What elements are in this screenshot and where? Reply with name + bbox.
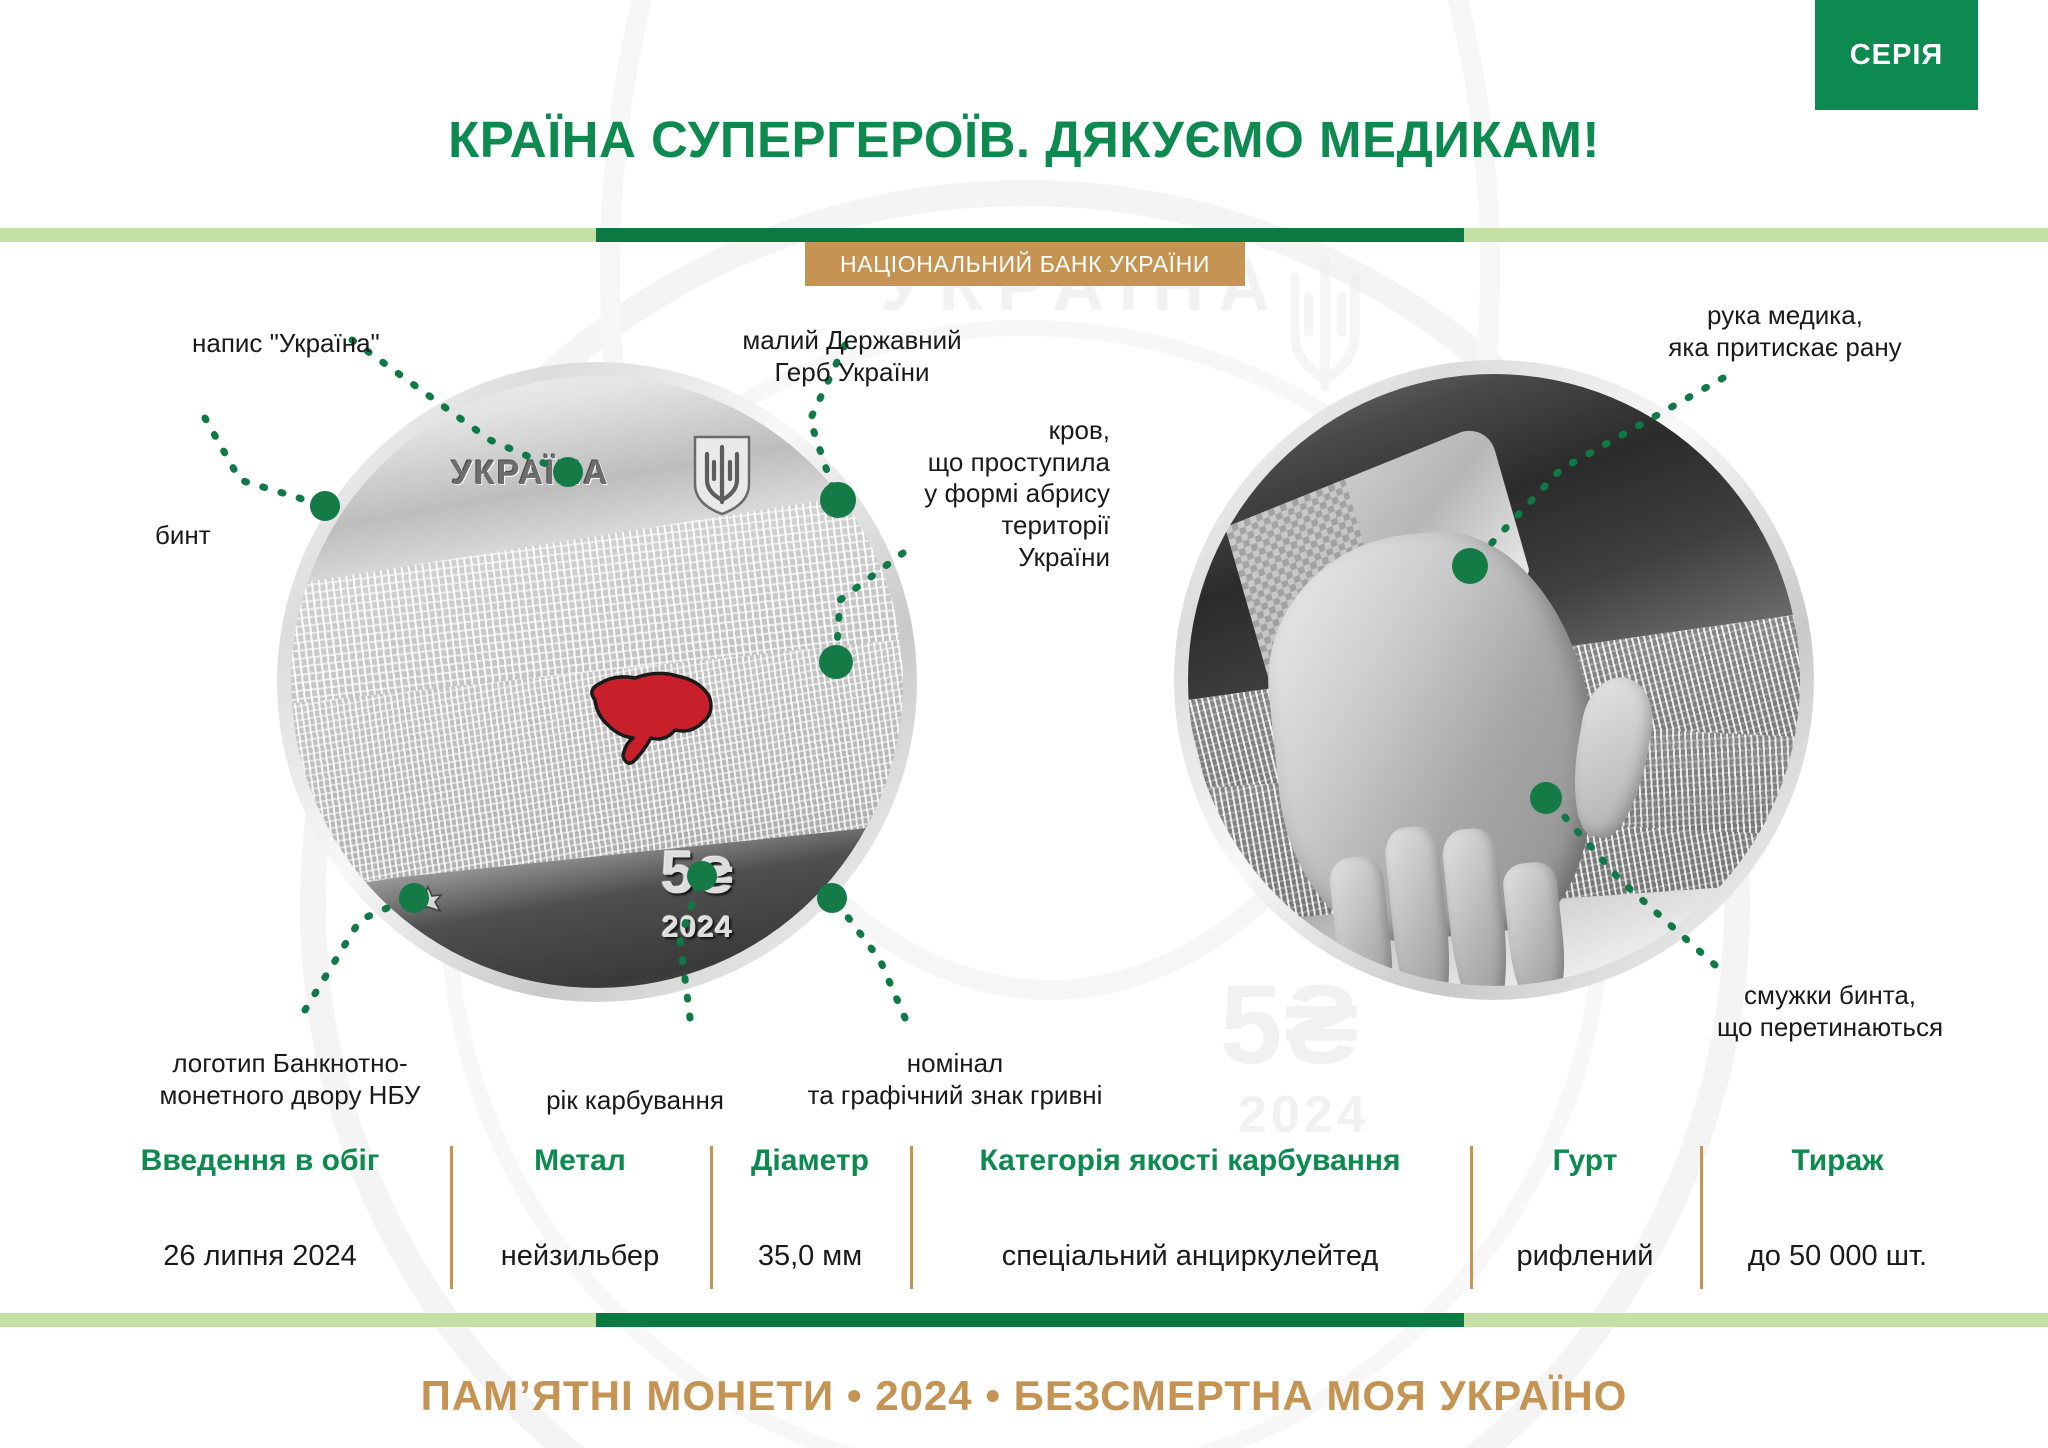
coin-legend-ukraina: УКРАЇНА bbox=[451, 454, 610, 493]
annotation-legend-ukraina: напис "Україна" bbox=[192, 328, 380, 360]
divider-bottom-core bbox=[596, 1313, 1464, 1327]
spec-column-edge: Гурт рифлений bbox=[1470, 1140, 1700, 1295]
spec-value: спеціальний анциркулейтед bbox=[1002, 1240, 1379, 1273]
coin-denomination: 5 ₴ 2024 bbox=[661, 838, 734, 945]
divider-top bbox=[0, 228, 2048, 242]
spec-column-issue-date: Введення в обіг 26 липня 2024 bbox=[70, 1140, 450, 1295]
spec-header: Метал bbox=[534, 1144, 626, 1178]
series-badge: СЕРІЯ bbox=[1815, 0, 1978, 110]
spec-column-quality: Категорія якості карбування спеціальний … bbox=[910, 1140, 1470, 1295]
annotation-mint-year: рік карбування bbox=[510, 1085, 760, 1117]
annotation-medic-hand: рука медика, яка притискає рану bbox=[1620, 300, 1950, 363]
spec-column-diameter: Діаметр 35,0 мм bbox=[710, 1140, 910, 1295]
spec-header: Тираж bbox=[1792, 1144, 1884, 1178]
coin-reverse bbox=[1174, 360, 1814, 1000]
annotation-denomination: номінал та графічний знак гривні bbox=[770, 1048, 1140, 1111]
coin-obverse: УКРАЇНА 5 ₴ 2024 bbox=[277, 362, 917, 1002]
watermark-year: 2024 bbox=[1238, 1085, 1370, 1145]
footer-tagline: ПАМ’ЯТНІ МОНЕТИ • 2024 • БЕЗСМЕРТНА МОЯ … bbox=[0, 1372, 2048, 1420]
annotation-bandage: бинт bbox=[155, 520, 211, 552]
spec-column-metal: Метал нейзильбер bbox=[450, 1140, 710, 1295]
divider-bottom bbox=[0, 1313, 2048, 1327]
spec-value: нейзильбер bbox=[501, 1240, 659, 1273]
annotation-bandage-strips: смужки бинта, що перетинаються bbox=[1660, 980, 2000, 1043]
coin-obverse-face: УКРАЇНА 5 ₴ 2024 bbox=[291, 376, 903, 988]
page-title: КРАЇНА СУПЕРГЕРОЇВ. ДЯКУЄМО МЕДИКАМ! bbox=[0, 110, 2048, 169]
annotation-mint-logo: логотип Банкнотно- монетного двору НБУ bbox=[140, 1048, 440, 1111]
spec-column-mintage: Тираж до 50 000 шт. bbox=[1700, 1140, 1975, 1295]
annotation-state-emblem: малий Державний Герб України bbox=[712, 325, 992, 388]
spec-header: Категорія якості карбування bbox=[979, 1144, 1400, 1178]
spec-header: Введення в обіг bbox=[141, 1144, 380, 1178]
hryvnia-sign-icon: ₴ bbox=[698, 846, 734, 906]
coin-reverse-face bbox=[1188, 374, 1800, 986]
divider-top-core bbox=[596, 228, 1464, 242]
spec-header: Гурт bbox=[1553, 1144, 1618, 1178]
issuer-banner: НАЦІОНАЛЬНИЙ БАНК УКРАЇНИ bbox=[805, 242, 1245, 286]
specifications-table: Введення в обіг 26 липня 2024 Метал нейз… bbox=[70, 1140, 1975, 1295]
coin-year: 2024 bbox=[661, 911, 734, 945]
denomination-value: 5 bbox=[661, 838, 695, 907]
spec-value: 26 липня 2024 bbox=[163, 1240, 356, 1273]
state-coat-of-arms-icon bbox=[691, 434, 753, 516]
annotation-blood-map: кров, що проступила у формі абрису терит… bbox=[830, 415, 1110, 574]
spec-value: до 50 000 шт. bbox=[1748, 1240, 1927, 1273]
spec-header: Діаметр bbox=[751, 1144, 869, 1178]
mint-logo-icon bbox=[411, 884, 445, 918]
red-enamel-ukraine-map bbox=[579, 656, 719, 776]
spec-value: 35,0 мм bbox=[758, 1240, 862, 1273]
spec-value: рифлений bbox=[1516, 1240, 1653, 1273]
